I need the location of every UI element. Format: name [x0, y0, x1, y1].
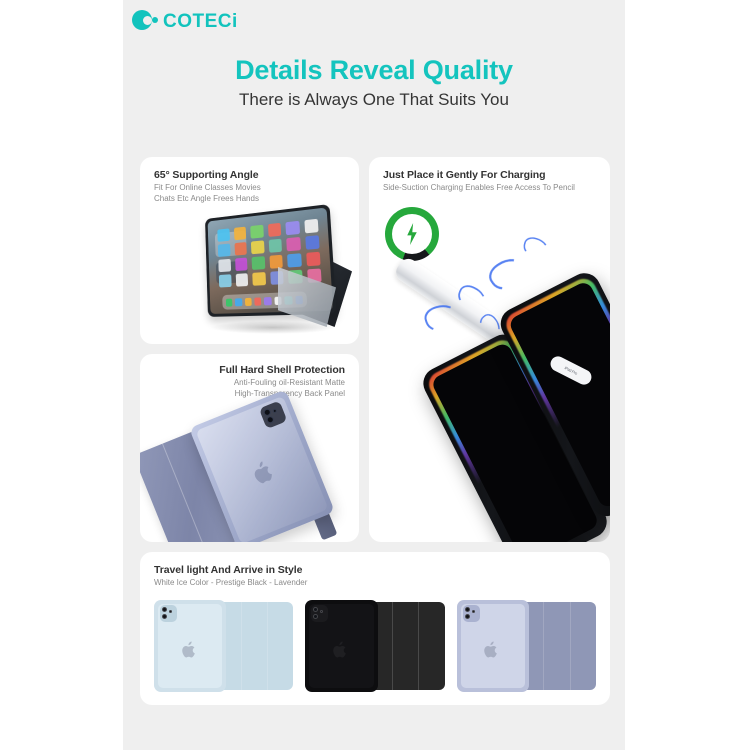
card-angle-sub-line2: Chats Etc Angle Frees Hands — [154, 194, 261, 205]
variant-back-panel — [305, 600, 377, 692]
card-hard-shell: Full Hard Shell Protection Anti-Fouling … — [140, 354, 359, 542]
stacked-cases-image — [148, 398, 348, 538]
page-headline: Details Reveal Quality — [123, 55, 625, 86]
card-charging-header: Just Place it Gently For Charging Side-S… — [383, 169, 575, 194]
card-charging-subtitle: Side-Suction Charging Enables Free Acces… — [383, 183, 575, 194]
color-variant-2[interactable] — [305, 592, 444, 697]
apple-logo-icon — [181, 641, 196, 658]
color-variant-3[interactable] — [457, 592, 596, 697]
logo-text: COTECi — [163, 11, 238, 33]
brand-logo: COTECi — [132, 10, 238, 34]
camera-module-icon — [311, 605, 328, 622]
card-color-variants: Travel light And Arrive in Style White I… — [140, 552, 610, 705]
card-colors-header: Travel light And Arrive in Style White I… — [154, 564, 307, 589]
camera-module-icon — [160, 605, 177, 622]
card-charging-title: Just Place it Gently For Charging — [383, 169, 575, 181]
card-angle-header: 65° Supporting Angle Fit For Online Clas… — [154, 169, 261, 204]
card-shell-title: Full Hard Shell Protection — [219, 364, 345, 376]
card-colors-subtitle: White Ice Color - Prestige Black - Laven… — [154, 578, 307, 589]
apple-logo-icon — [484, 641, 499, 658]
spark-arc-icon — [485, 252, 532, 297]
logo-mark-icon — [132, 10, 156, 34]
card-supporting-angle: 65° Supporting Angle Fit For Online Clas… — [140, 157, 359, 344]
tablet-on-stand-image — [192, 205, 352, 344]
variant-cover — [367, 602, 445, 690]
lightning-bolt-icon — [405, 223, 419, 245]
page-subheadline: There is Always One That Suits You — [123, 90, 625, 110]
color-variant-1[interactable] — [154, 592, 293, 697]
card-angle-sub-line1: Fit For Online Classes Movies — [154, 183, 261, 194]
card-shell-sub-line1: Anti-Fouling oil-Resistant Matte — [219, 378, 345, 389]
color-variant-row — [154, 592, 596, 697]
apple-logo-icon — [333, 641, 348, 658]
card-angle-subtitle: Fit For Online Classes Movies Chats Etc … — [154, 183, 261, 204]
camera-module-icon — [463, 605, 480, 622]
marketing-page: COTECi Details Reveal Quality There is A… — [0, 0, 750, 750]
card-colors-title: Travel light And Arrive in Style — [154, 564, 307, 576]
battery-charging-icon — [385, 207, 439, 261]
card-angle-title: 65° Supporting Angle — [154, 169, 261, 181]
tablet-shadow — [210, 321, 336, 334]
variant-back-panel — [457, 600, 529, 692]
screen-app-grid — [218, 219, 322, 288]
variant-cover — [215, 602, 293, 690]
spark-arc-icon — [521, 235, 551, 261]
variant-cover — [518, 602, 596, 690]
variant-back-panel — [154, 600, 226, 692]
card-charging: Just Place it Gently For Charging Side-S… — [369, 157, 610, 542]
